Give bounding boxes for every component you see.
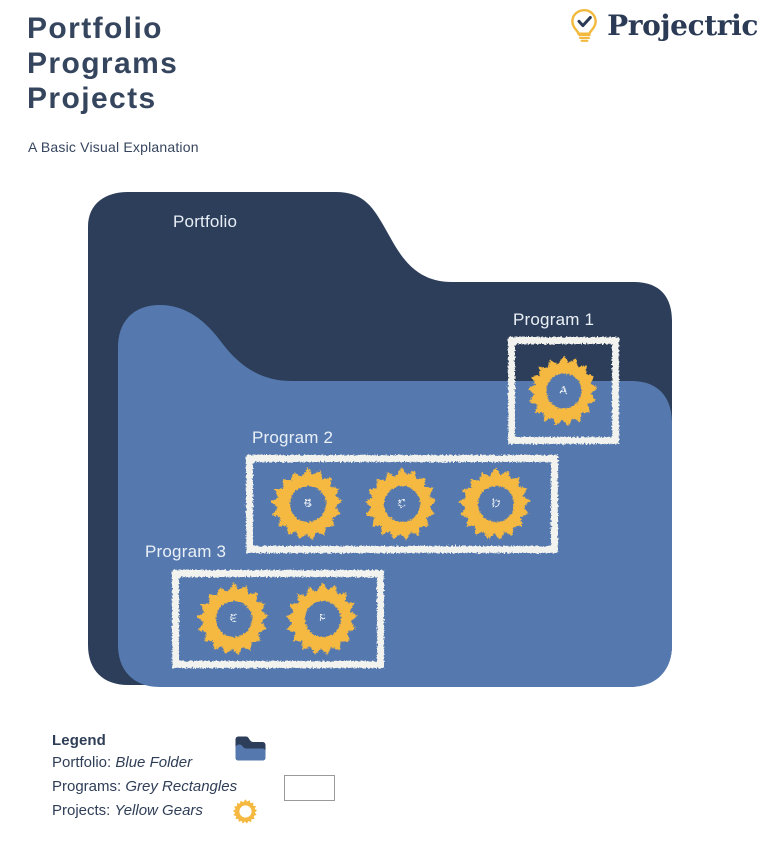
gear-icon	[456, 464, 536, 544]
rectangle-icon	[284, 775, 335, 801]
legend-key-portfolio: Portfolio:	[52, 754, 115, 771]
program-1-box[interactable]: A	[508, 337, 619, 444]
gear-icon	[194, 579, 274, 659]
folder-icon	[234, 734, 267, 763]
gear-icon	[525, 352, 603, 430]
legend-row-portfolio: Portfolio: Blue Folder	[52, 751, 392, 775]
program-1-label: Program 1	[513, 310, 594, 330]
title-line-2: Programs	[27, 46, 178, 81]
project-gear-f[interactable]: F	[283, 579, 363, 659]
gear-icon	[232, 798, 259, 825]
portfolio-folder-shape	[0, 175, 768, 715]
legend-key-programs: Programs:	[52, 778, 125, 795]
projectric-logo[interactable]: Projectric	[569, 6, 758, 46]
portfolio-label: Portfolio	[173, 212, 237, 232]
program-3-label: Program 3	[145, 542, 226, 562]
legend-title: Legend	[52, 731, 392, 751]
program-2-box[interactable]: B C D	[246, 455, 558, 553]
legend-value-portfolio: Blue Folder	[115, 754, 192, 771]
project-gear-d[interactable]: D	[456, 464, 536, 544]
legend: Legend Portfolio: Blue Folder Programs: …	[52, 731, 392, 823]
title-line-1: Portfolio	[27, 11, 178, 46]
project-gear-c[interactable]: C	[362, 464, 442, 544]
project-gear-b[interactable]: B	[268, 464, 348, 544]
legend-value-projects: Yellow Gears	[115, 802, 203, 819]
legend-key-projects: Projects:	[52, 802, 115, 819]
lightbulb-check-icon	[569, 8, 600, 44]
logo-wordmark: Projectric	[607, 12, 758, 40]
legend-row-programs: Programs: Grey Rectangles	[52, 775, 392, 799]
page-header: Portfolio Programs Projects A Basic Visu…	[0, 0, 768, 175]
gear-icon	[362, 464, 442, 544]
legend-value-programs: Grey Rectangles	[125, 778, 237, 795]
project-gear-e[interactable]: E	[194, 579, 274, 659]
gear-icon	[268, 464, 348, 544]
program-3-box[interactable]: E F	[172, 570, 384, 668]
legend-row-projects: Projects: Yellow Gears	[52, 799, 392, 823]
title-line-3: Projects	[27, 81, 178, 116]
gear-icon	[283, 579, 363, 659]
page-subtitle: A Basic Visual Explanation	[28, 139, 199, 155]
portfolio-diagram: Portfolio Program 1 A Program 2 B	[0, 175, 768, 715]
project-gear-a[interactable]: A	[525, 352, 603, 430]
program-2-label: Program 2	[252, 428, 333, 448]
page-title: Portfolio Programs Projects	[27, 11, 178, 116]
